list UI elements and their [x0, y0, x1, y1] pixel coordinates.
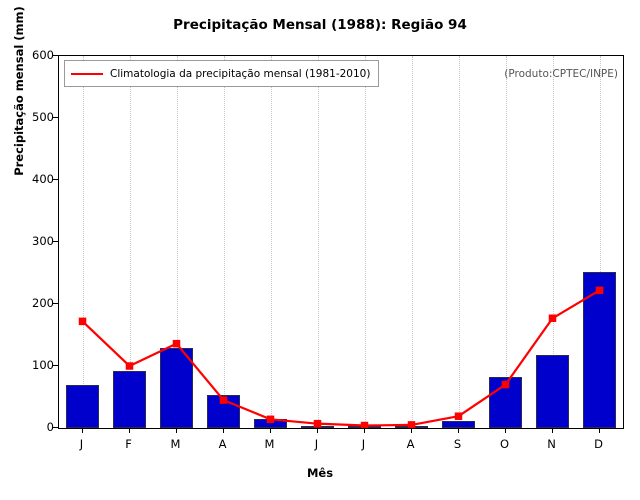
chart-figure: Precipitação Mensal (1988): Região 94 Pr…	[0, 0, 640, 500]
plot-area	[58, 55, 624, 429]
y-tick-label: 300	[32, 234, 54, 248]
y-tick-label: 600	[32, 48, 54, 62]
x-tick-label: S	[454, 437, 461, 451]
climatology-marker	[361, 422, 369, 428]
legend-line-swatch	[71, 73, 103, 75]
climatology-marker	[408, 421, 416, 428]
produto-annotation: (Produto:CPTEC/INPE)	[504, 68, 618, 80]
legend-label-climatology: Climatologia da precipitação mensal (198…	[110, 68, 370, 80]
x-tick-label: A	[407, 437, 415, 451]
y-axis-label: Precipitação mensal (mm)	[12, 0, 26, 241]
y-tick-label: 100	[32, 358, 54, 372]
climatology-marker	[314, 420, 322, 428]
x-tick-label: M	[171, 437, 181, 451]
x-tick-label: J	[362, 437, 365, 451]
plot-inner	[59, 56, 623, 428]
x-tick-label: A	[219, 437, 227, 451]
y-tick-label: 200	[32, 296, 54, 310]
x-tick-label: F	[125, 437, 132, 451]
x-tick-label: N	[547, 437, 556, 451]
climatology-polyline	[83, 290, 600, 425]
x-tick-label: J	[315, 437, 318, 451]
climatology-marker	[502, 381, 510, 389]
y-axis-label-wrapper: Precipitação mensal (mm)	[2, 0, 22, 500]
climatology-marker	[267, 416, 275, 424]
climatology-line-series	[59, 56, 623, 428]
climatology-marker	[220, 396, 228, 404]
climatology-marker	[549, 315, 557, 323]
x-tick-label: J	[80, 437, 83, 451]
climatology-marker	[173, 340, 181, 348]
chart-title: Precipitação Mensal (1988): Região 94	[0, 17, 640, 33]
x-tick-label: O	[500, 437, 509, 451]
chart-legend: Climatologia da precipitação mensal (198…	[64, 60, 379, 87]
climatology-marker	[126, 362, 134, 370]
x-tick-label: D	[594, 437, 603, 451]
climatology-marker	[79, 318, 87, 326]
y-tick-label: 500	[32, 110, 54, 124]
climatology-marker	[596, 287, 604, 295]
climatology-marker	[455, 412, 463, 420]
x-tick-label: M	[265, 437, 275, 451]
x-axis-label: Mês	[0, 466, 640, 480]
y-tick-label: 400	[32, 172, 54, 186]
